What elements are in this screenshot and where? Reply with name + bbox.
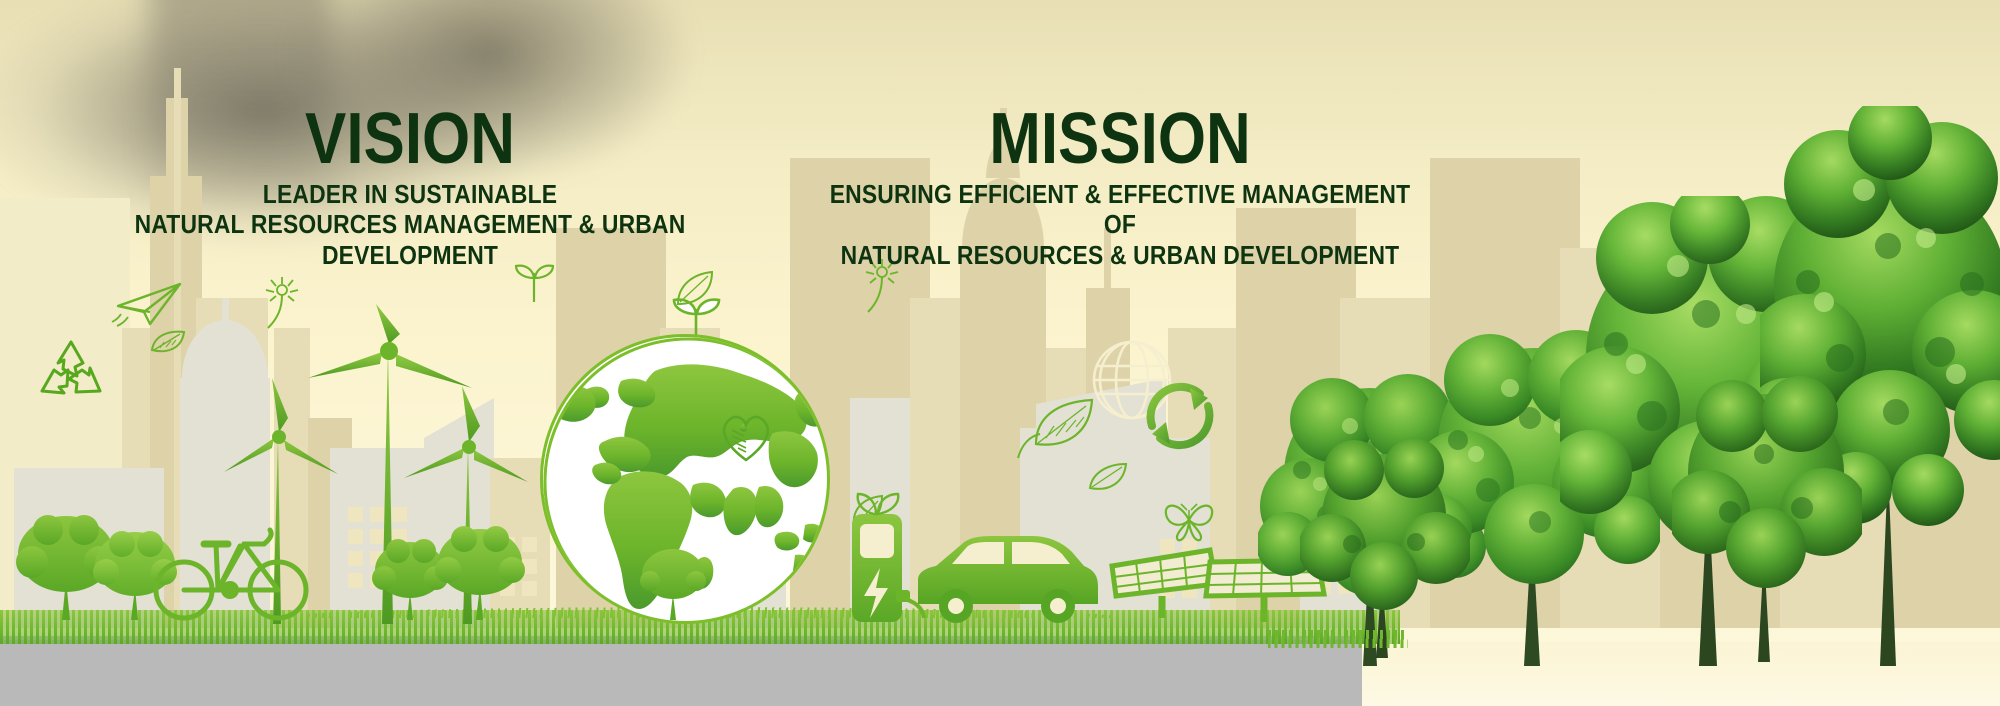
vision-title: VISION bbox=[109, 104, 711, 175]
recycle-arrows-icon bbox=[1132, 368, 1228, 464]
tree-icon bbox=[640, 546, 710, 620]
leaf-icon bbox=[148, 328, 188, 356]
leaf-pair-icon bbox=[672, 268, 718, 308]
vision-subtitle-line-1: LEADER IN SUSTAINABLE bbox=[102, 179, 718, 210]
tree-icon bbox=[1300, 428, 1470, 658]
heart-leaf-icon bbox=[718, 412, 774, 464]
vision-subtitle-line-2: NATURAL RESOURCES MANAGEMENT & URBAN DEV… bbox=[102, 209, 718, 270]
tree-icon bbox=[434, 524, 530, 620]
recycle-triangle-icon bbox=[34, 336, 108, 410]
leaf-icon bbox=[1086, 460, 1130, 494]
road-pavement bbox=[0, 640, 1362, 706]
grass-patch bbox=[1268, 630, 1408, 648]
vision-block: VISION LEADER IN SUSTAINABLE NATURAL RES… bbox=[60, 104, 760, 271]
mission-block: MISSION ENSURING EFFICIENT & EFFECTIVE M… bbox=[770, 104, 1470, 271]
mission-subtitle-line-1: ENSURING EFFICIENT & EFFECTIVE MANAGEMEN… bbox=[812, 179, 1428, 240]
bicycle-icon bbox=[152, 522, 312, 622]
tree-icon bbox=[1672, 362, 1862, 662]
electric-car-icon bbox=[912, 528, 1102, 624]
eco-vision-mission-banner: VISION LEADER IN SUSTAINABLE NATURAL RES… bbox=[0, 0, 2000, 706]
mission-title: MISSION bbox=[819, 104, 1421, 175]
mission-subtitle-line-2: NATURAL RESOURCES & URBAN DEVELOPMENT bbox=[812, 240, 1428, 271]
